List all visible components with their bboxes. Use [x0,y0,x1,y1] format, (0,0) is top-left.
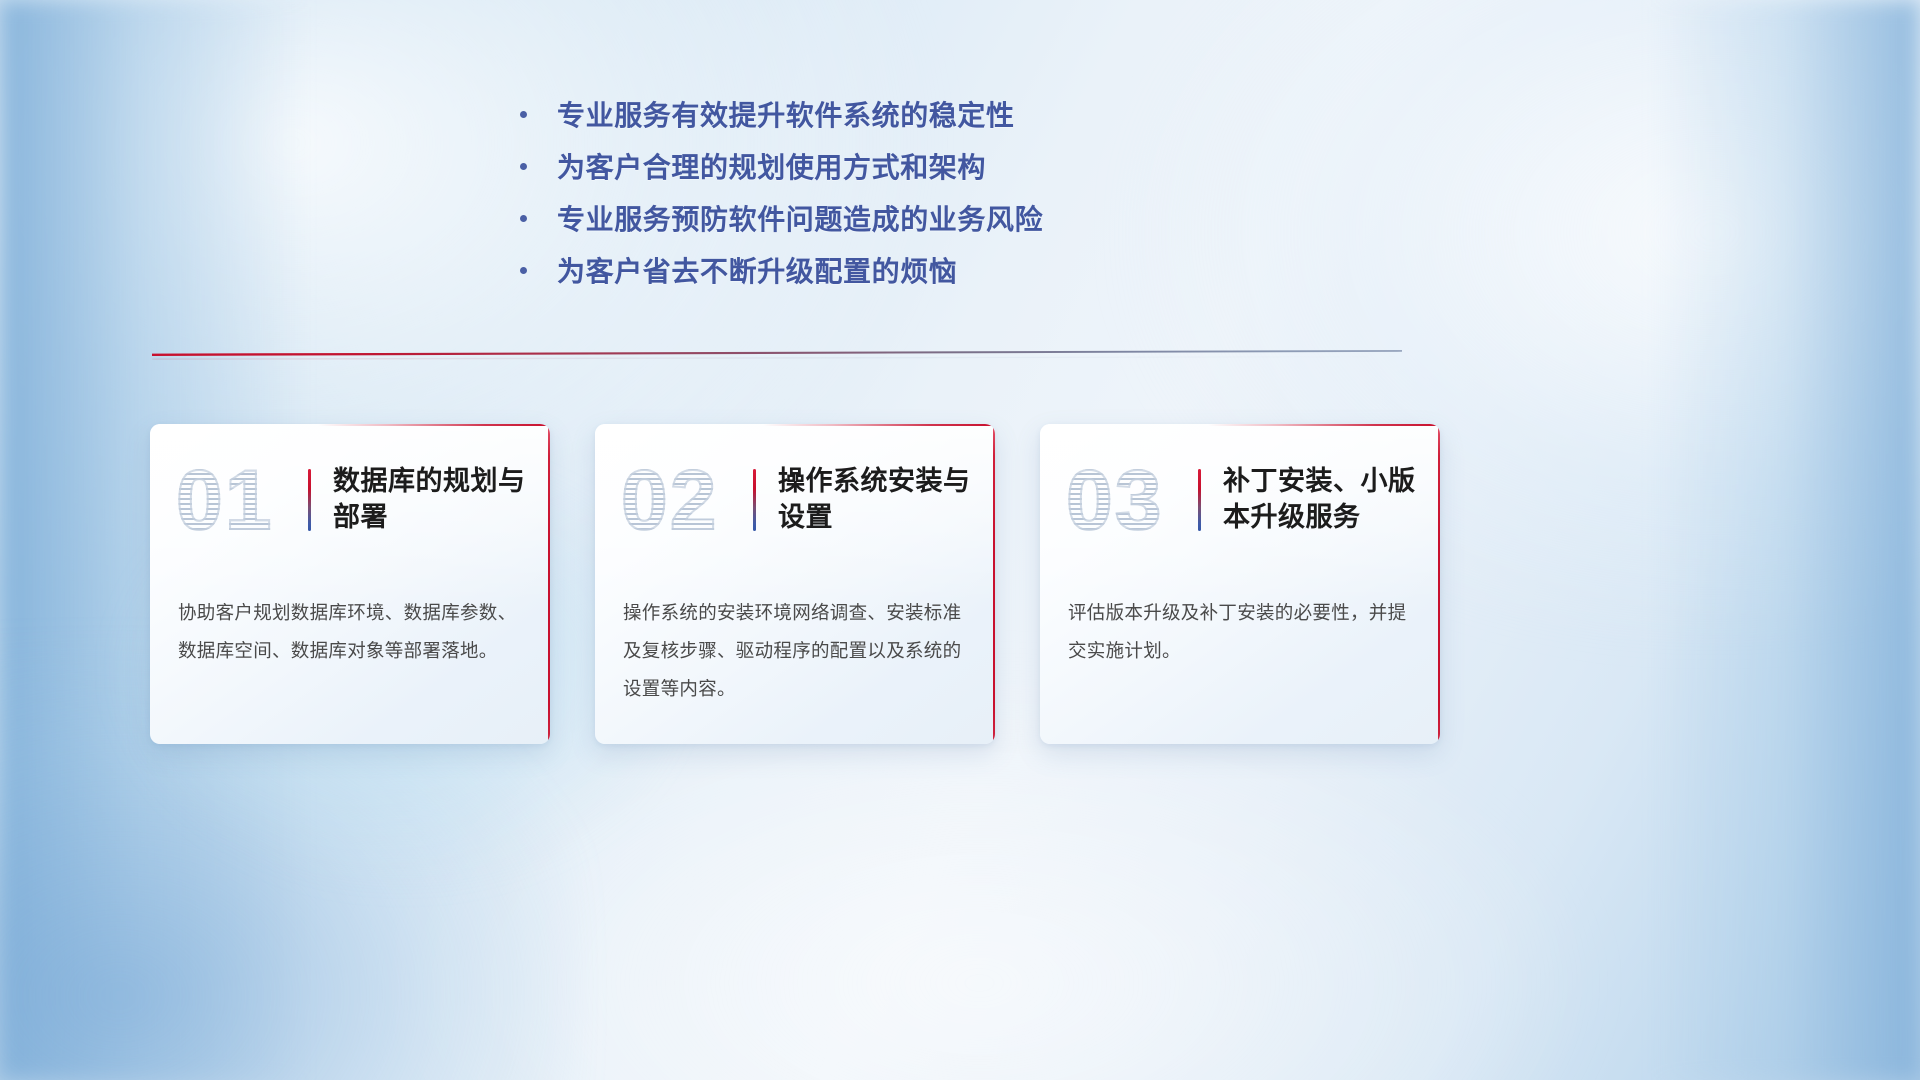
card-separator-bar [308,469,311,531]
card-number: 02 [621,458,751,542]
card-title: 数据库的规划与部署 [333,464,550,535]
card-number: 01 [176,458,306,542]
bullet-dot-icon [520,111,527,118]
card-header: 03 补丁安装、小版本升级服务 [1040,424,1440,542]
slide-canvas: 专业服务有效提升软件系统的稳定性 为客户合理的规划使用方式和架构 专业服务预防软… [0,0,1920,1080]
divider-line [152,350,1402,356]
bullet-text: 专业服务预防软件问题造成的业务风险 [557,198,1043,238]
card-header: 02 操作系统安装与设置 [595,424,995,542]
card-description: 评估版本升级及补丁安装的必要性，并提交实施计划。 [1068,594,1412,670]
bullet-list: 专业服务有效提升软件系统的稳定性 为客户合理的规划使用方式和架构 专业服务预防软… [520,88,1340,296]
card-header: 01 数据库的规划与部署 [150,424,550,542]
bullet-text: 专业服务有效提升软件系统的稳定性 [557,94,1015,134]
list-item: 专业服务有效提升软件系统的稳定性 [520,88,1340,140]
background-edge-right [1651,0,1920,1080]
list-item: 为客户合理的规划使用方式和架构 [520,140,1340,192]
list-item: 专业服务预防软件问题造成的业务风险 [520,192,1340,244]
card-separator-bar [753,469,756,531]
service-card-02[interactable]: 02 操作系统安装与设置 操作系统的安装环境网络调查、安装标准及复核步骤、驱动程… [595,424,995,744]
bullet-text: 为客户省去不断升级配置的烦恼 [557,250,957,290]
card-number: 03 [1066,458,1196,542]
card-title: 操作系统安装与设置 [778,464,995,535]
service-card-group: 01 数据库的规划与部署 协助客户规划数据库环境、数据库参数、数据库空间、数据库… [150,424,1440,744]
bullet-text: 为客户合理的规划使用方式和架构 [557,146,986,186]
divider-shadow [152,356,1402,360]
service-card-01[interactable]: 01 数据库的规划与部署 协助客户规划数据库环境、数据库参数、数据库空间、数据库… [150,424,550,744]
card-description: 协助客户规划数据库环境、数据库参数、数据库空间、数据库对象等部署落地。 [178,594,522,670]
bullet-dot-icon [520,215,527,222]
section-divider [152,344,1402,366]
card-description: 操作系统的安装环境网络调查、安装标准及复核步骤、驱动程序的配置以及系统的设置等内… [623,594,967,708]
bullet-dot-icon [520,163,527,170]
service-card-03[interactable]: 03 补丁安装、小版本升级服务 评估版本升级及补丁安装的必要性，并提交实施计划。 [1040,424,1440,744]
bullet-dot-icon [520,267,527,274]
list-item: 为客户省去不断升级配置的烦恼 [520,244,1340,296]
card-title: 补丁安装、小版本升级服务 [1223,464,1440,535]
card-separator-bar [1198,469,1201,531]
